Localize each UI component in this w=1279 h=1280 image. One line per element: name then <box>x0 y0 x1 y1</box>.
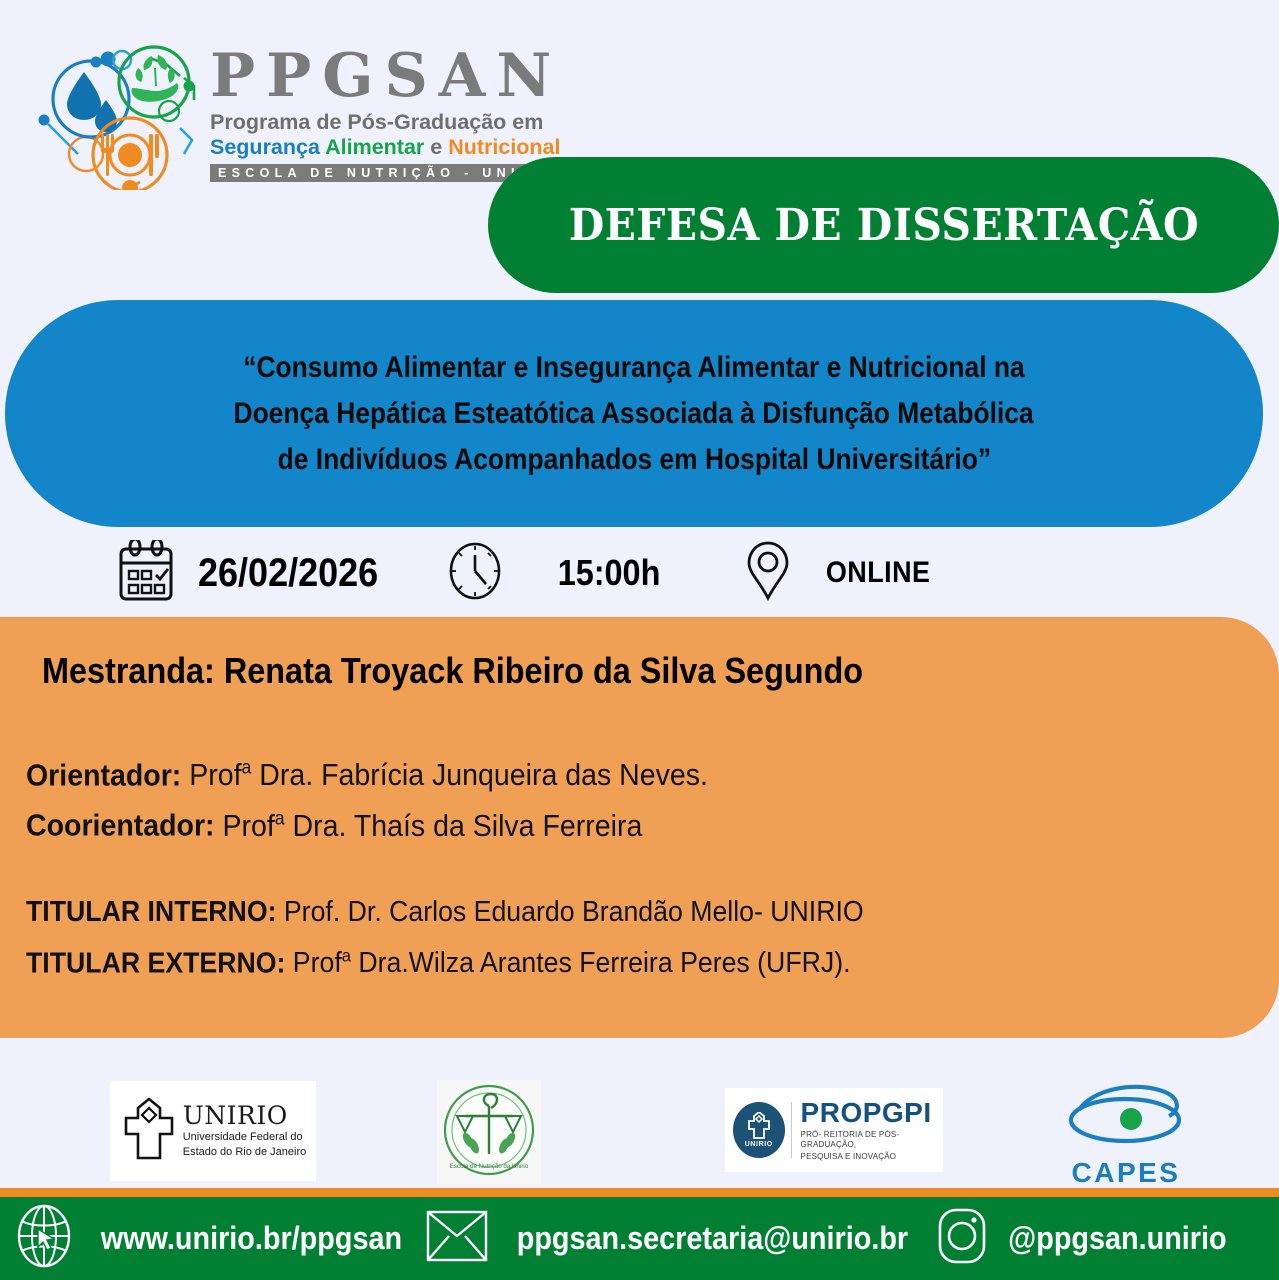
propgpi-logo-text: PROPGPI PRÓ- REITORIA DE PÓS-GRADUAÇÃO, … <box>801 1098 943 1162</box>
internal-member-name: Prof. Dr. Carlos Eduardo Brandão Mello- … <box>284 896 864 928</box>
ppgsan-logo-text: PPGSAN Programa de Pós-Graduação em Segu… <box>210 44 534 190</box>
coadvisor-name: Profa Dra. Thaís da Silva Ferreira <box>222 808 642 843</box>
external-member-label: TITULAR EXTERNO: <box>26 947 285 979</box>
instagram-icon <box>934 1206 990 1271</box>
envelope-icon <box>425 1206 489 1271</box>
capes-loop-icon <box>1061 1082 1191 1161</box>
advisor-name: Profa Dra. Fabrícia Junqueira das Neves. <box>189 757 708 792</box>
footer-website-text: www.unirio.br/ppgsan <box>101 1220 402 1257</box>
clock-icon <box>448 542 502 605</box>
calendar-icon <box>118 540 174 607</box>
capes-logo: CAPES <box>1058 1082 1194 1186</box>
footer-instagram[interactable]: @ppgsan.unirio <box>934 1206 1239 1271</box>
dissertation-defense-poster: PPGSAN Programa de Pós-Graduação em Segu… <box>0 0 1279 1280</box>
advisor-label: Orientador: <box>26 757 181 792</box>
map-pin-icon <box>744 540 792 607</box>
ppgsan-logo-icons <box>34 42 204 190</box>
propgpi-title: PROPGPI <box>801 1098 943 1128</box>
unirio-logo: UNIRIO Universidade Federal do Estado do… <box>110 1081 316 1181</box>
ppgsan-word-nutricional: Nutricional <box>448 135 560 159</box>
coadvisor-line: Coorientador: Profa Dra. Thaís da Silva … <box>26 797 1160 847</box>
globe-cursor-icon <box>14 1203 74 1274</box>
footer-email[interactable]: ppgsan.secretaria@unirio.br <box>425 1206 930 1271</box>
footer-accent-strip <box>0 1188 1279 1197</box>
external-member-name: Profa Dra.Wilza Arantes Ferreira Peres (… <box>293 947 851 979</box>
ppgsan-word-alimentar: Alimentar <box>325 135 430 159</box>
event-date-value: 26/02/2026 <box>198 551 378 596</box>
event-info-row: 26/02/2026 <box>0 533 1279 613</box>
internal-member-line: TITULAR INTERNO: Prof. Dr. Carlos Eduard… <box>26 890 1160 934</box>
thesis-title-line-3: de Indivíduos Acompanhados em Hospital U… <box>277 437 990 483</box>
coadvisor-label: Coorientador: <box>26 808 215 843</box>
unirio-logo-text: UNIRIO Universidade Federal do Estado do… <box>183 1103 307 1159</box>
advisor-line: Orientador: Profa Dra. Fabrícia Junqueir… <box>26 747 1160 797</box>
defense-banner: DEFESA DE DISSERTAÇÃO <box>488 157 1279 293</box>
propgpi-subtitle-line-2: PESQUISA E INOVAÇÃO <box>801 1152 943 1162</box>
ppgsan-subtitle-line-1: Programa de Pós-Graduação em <box>210 110 534 135</box>
propgpi-subtitle-line-1: PRÓ- REITORIA DE PÓS-GRADUAÇÃO, <box>801 1130 943 1150</box>
escola-nutricao-seal-icon: Escola de Nutrição da Unirio <box>441 1082 537 1183</box>
contact-footer: www.unirio.br/ppgsan ppgsan.secretaria@u… <box>0 1197 1279 1280</box>
escola-nutricao-logo: Escola de Nutrição da Unirio <box>437 1080 541 1184</box>
participants-block: Mestranda: Renata Troyack Ribeiro da Sil… <box>0 617 1279 1038</box>
propgpi-badge-text: UNIRIO <box>745 1141 773 1148</box>
external-member-line: TITULAR EXTERNO: Profa Dra.Wilza Arantes… <box>26 934 1160 986</box>
thesis-title-line-1: “Consumo Alimentar e Insegurança Aliment… <box>243 345 1024 391</box>
unirio-shield-icon <box>120 1096 178 1167</box>
footer-website[interactable]: www.unirio.br/ppgsan <box>14 1203 419 1274</box>
thesis-title-line-2: Doença Hepática Esteatótica Associada à … <box>234 391 1034 437</box>
ppgsan-acronym: PPGSAN <box>210 44 534 108</box>
unirio-circle-badge-icon: UNIRIO <box>733 1102 785 1158</box>
sponsor-logos: UNIRIO Universidade Federal do Estado do… <box>0 1080 1279 1188</box>
defense-banner-label: DEFESA DE DISSERTAÇÃO <box>568 200 1198 251</box>
student-line: Mestranda: Renata Troyack Ribeiro da Sil… <box>42 647 1137 695</box>
unirio-subtitle-line-1: Universidade Federal do <box>183 1131 307 1144</box>
escola-seal-caption: Escola de Nutrição da Unirio <box>450 1163 529 1170</box>
event-location-value: ONLINE <box>826 556 931 590</box>
ppgsan-logo: PPGSAN Programa de Pós-Graduação em Segu… <box>34 42 534 190</box>
event-date: 26/02/2026 <box>118 540 388 607</box>
ppgsan-word-seguranca: Segurança <box>210 135 325 159</box>
unirio-name: UNIRIO <box>183 1103 307 1129</box>
propgpi-divider <box>791 1102 792 1158</box>
unirio-subtitle-line-2: Estado do Rio de Janeiro <box>183 1146 307 1159</box>
internal-member-label: TITULAR INTERNO: <box>26 896 276 928</box>
panel-group: TITULAR INTERNO: Prof. Dr. Carlos Eduard… <box>26 890 1259 986</box>
footer-instagram-text: @ppgsan.unirio <box>1008 1220 1226 1257</box>
thesis-title-block: “Consumo Alimentar e Insegurança Aliment… <box>5 300 1263 527</box>
ppgsan-subtitle-line-2: Segurança Alimentar e Nutricional <box>210 135 534 160</box>
event-time: 15:00h <box>448 542 666 605</box>
footer-email-text: ppgsan.secretaria@unirio.br <box>517 1220 908 1257</box>
capes-wordmark: CAPES <box>1072 1157 1181 1189</box>
event-location: ONLINE <box>744 540 936 607</box>
advisors-group: Orientador: Profa Dra. Fabrícia Junqueir… <box>26 747 1259 848</box>
event-time-value: 15:00h <box>558 552 661 594</box>
propgpi-logo: UNIRIO PROPGPI PRÓ- REITORIA DE PÓS-GRAD… <box>725 1088 943 1172</box>
ppgsan-word-e: e <box>430 135 448 159</box>
